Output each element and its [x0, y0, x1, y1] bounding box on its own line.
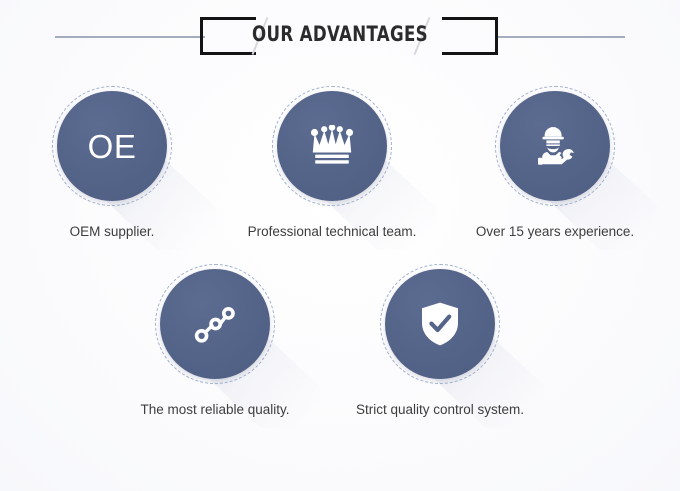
advantage-badge [232, 78, 432, 218]
advantage-circle [385, 269, 495, 379]
advantage-caption: The most reliable quality. [115, 402, 315, 417]
advantage-item-reliable-quality[interactable]: The most reliable quality. [115, 256, 315, 417]
advantage-badge [115, 256, 315, 396]
advantage-badge [455, 78, 655, 218]
oe-text-icon: OE [88, 130, 137, 163]
advantage-caption: OEM supplier. [12, 224, 212, 239]
advantage-badge: OE [12, 78, 212, 218]
section-header: OUR ADVANTAGES [0, 0, 680, 72]
advantage-caption: Professional technical team. [232, 224, 432, 239]
node-chain-icon [192, 301, 238, 347]
worker-wrench-icon [533, 124, 577, 168]
advantage-circle [500, 91, 610, 201]
advantages-row-1: OE OEM supplier. [0, 78, 680, 256]
advantage-item-quality-control[interactable]: Strict quality control system. [340, 256, 540, 417]
advantage-item-oem-supplier[interactable]: OE OEM supplier. [12, 78, 212, 239]
shield-check-icon [420, 301, 460, 347]
advantage-circle [160, 269, 270, 379]
advantages-grid: OE OEM supplier. [0, 78, 680, 432]
advantage-circle: OE [57, 91, 167, 201]
page-title: OUR ADVANTAGES [41, 22, 639, 46]
advantage-item-years-experience[interactable]: Over 15 years experience. [455, 78, 655, 239]
advantage-caption: Over 15 years experience. [455, 224, 655, 239]
advantages-row-2: The most reliable quality. Strict qualit… [0, 256, 680, 432]
advantage-circle [277, 91, 387, 201]
crown-icon [309, 125, 355, 167]
advantage-caption: Strict quality control system. [340, 402, 540, 417]
advantage-badge [340, 256, 540, 396]
advantage-item-professional-team[interactable]: Professional technical team. [232, 78, 432, 239]
